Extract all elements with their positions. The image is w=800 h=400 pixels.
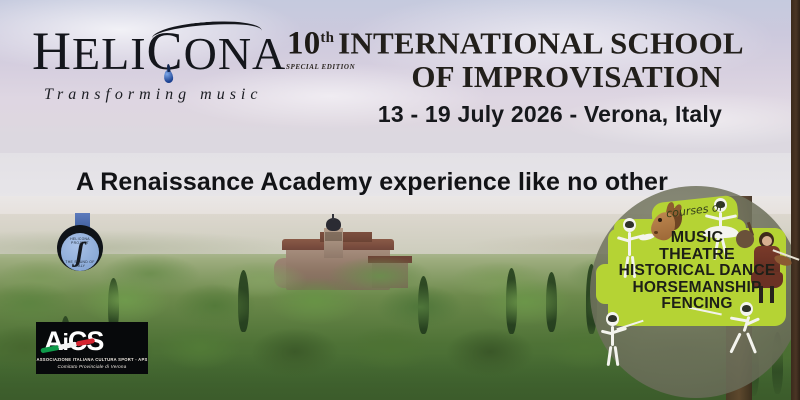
courses-list: MUSIC THEATRE HISTORICAL DANCE HORSEMANS…: [602, 230, 792, 313]
event-title-block: 10th SPECIAL EDITION INTERNATIONAL SCHOO…: [287, 22, 722, 128]
edition-ordinal: 10th SPECIAL EDITION: [287, 22, 334, 60]
seal-ring: HELICONA PROJECT ʃ THE SOUND OF ITALY: [57, 225, 103, 271]
seal-ring-text-bottom: THE SOUND OF ITALY: [61, 260, 99, 268]
wordmark-letter-e: E: [72, 28, 101, 79]
flutist-stick-figure-icon: [598, 312, 642, 368]
course-item-historical-dance[interactable]: HISTORICAL DANCE: [602, 263, 792, 280]
ordinal-suffix: th: [320, 30, 334, 46]
flute-icon: [616, 320, 643, 331]
right-border-edge: [791, 0, 800, 400]
strapline: A Renaissance Academy experience like no…: [76, 168, 668, 197]
wordmark-letter-i: I: [130, 28, 146, 79]
aics-logo[interactable]: AiCS ASSOCIAZIONE ITALIANA CULTURA SPORT…: [36, 322, 148, 374]
aics-full-name: ASSOCIAZIONE ITALIANA CULTURA SPORT - AP…: [36, 357, 148, 362]
special-edition-label: SPECIAL EDITION: [286, 51, 355, 84]
wordmark-letter-h: H: [32, 21, 72, 81]
title-line-one: 10th SPECIAL EDITION INTERNATIONAL SCHOO…: [287, 22, 722, 60]
wordmark-letter-l: L: [101, 28, 130, 79]
seal-face: HELICONA PROJECT ʃ THE SOUND OF ITALY: [61, 233, 99, 271]
course-item-theatre[interactable]: THEATRE: [602, 247, 792, 264]
aics-committee: Comitato Provinciale di Verona: [36, 364, 148, 369]
course-item-fencing[interactable]: FENCING: [602, 296, 792, 313]
helicona-seal-logo[interactable]: HELICONA PROJECT ʃ THE SOUND OF ITALY: [57, 221, 107, 271]
event-banner: HELICONA Transforming music 10th SPECIAL…: [0, 0, 800, 400]
helicona-logo[interactable]: HELICONA Transforming music: [32, 24, 282, 110]
dates-location: 13 - 19 July 2026 - Verona, Italy: [287, 101, 722, 128]
title-text-line1: INTERNATIONAL SCHOOL: [338, 25, 744, 60]
course-item-music[interactable]: MUSIC: [602, 230, 792, 247]
brand-tagline: Transforming music: [44, 86, 262, 104]
course-item-horsemanship[interactable]: HORSEMANSHIP: [602, 280, 792, 297]
